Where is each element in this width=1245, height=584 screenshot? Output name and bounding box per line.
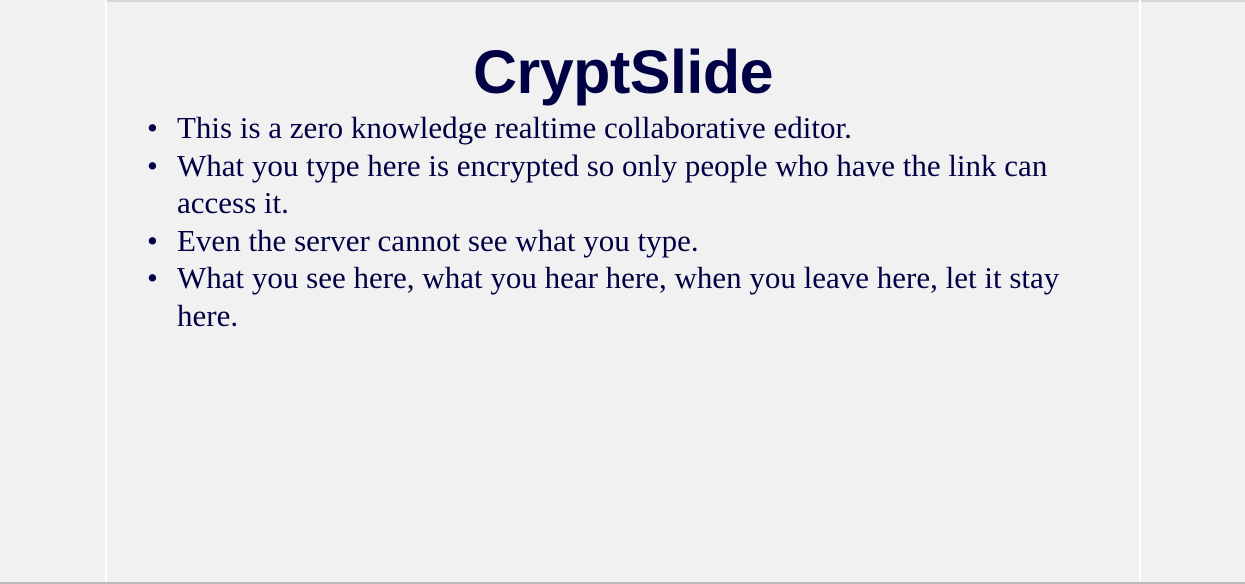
bullet-point-icon: •: [147, 259, 169, 297]
bullet-text: What you see here, what you hear here, w…: [177, 259, 1099, 334]
bullet-text: This is a zero knowledge realtime collab…: [177, 109, 1099, 147]
bullet-text: What you type here is encrypted so only …: [177, 147, 1099, 222]
bullet-list: • This is a zero knowledge realtime coll…: [107, 109, 1139, 335]
bullet-list-item[interactable]: • This is a zero knowledge realtime coll…: [107, 109, 1139, 147]
slide-canvas[interactable]: CryptSlide • This is a zero knowledge re…: [107, 2, 1139, 582]
bullet-list-item[interactable]: • Even the server cannot see what you ty…: [107, 222, 1139, 260]
bullet-point-icon: •: [147, 222, 169, 260]
bullet-text: Even the server cannot see what you type…: [177, 222, 1099, 260]
slide-right-edge-divider: [1139, 0, 1141, 582]
bullet-list-item[interactable]: • What you see here, what you hear here,…: [107, 259, 1139, 334]
slide-title: CryptSlide: [107, 2, 1139, 103]
slide-body: • This is a zero knowledge realtime coll…: [107, 109, 1139, 335]
bullet-point-icon: •: [147, 147, 169, 185]
bullet-point-icon: •: [147, 109, 169, 147]
bullet-list-item[interactable]: • What you type here is encrypted so onl…: [107, 147, 1139, 222]
slide-viewer-root: CryptSlide • This is a zero knowledge re…: [0, 0, 1245, 584]
